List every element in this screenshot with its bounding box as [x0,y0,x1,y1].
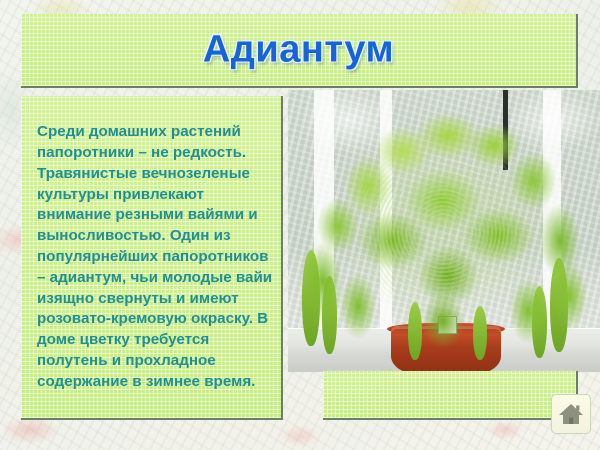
fern-foliage-texture [298,106,588,356]
page-title: Адиантум [21,29,576,72]
body-text-panel: Среди домашних растений папоротники – не… [21,96,283,420]
plant-photo [288,90,600,372]
title-panel: Адиантум [21,14,578,88]
body-paragraph: Среди домашних растений папоротники – не… [37,122,273,392]
home-button[interactable] [551,394,591,434]
fern-frond [473,306,487,360]
fern-frond [408,302,422,360]
slide-canvas: Адиантум Среди домашних растений папорот… [0,0,600,450]
home-icon [558,402,584,426]
bottom-panel [323,371,578,420]
